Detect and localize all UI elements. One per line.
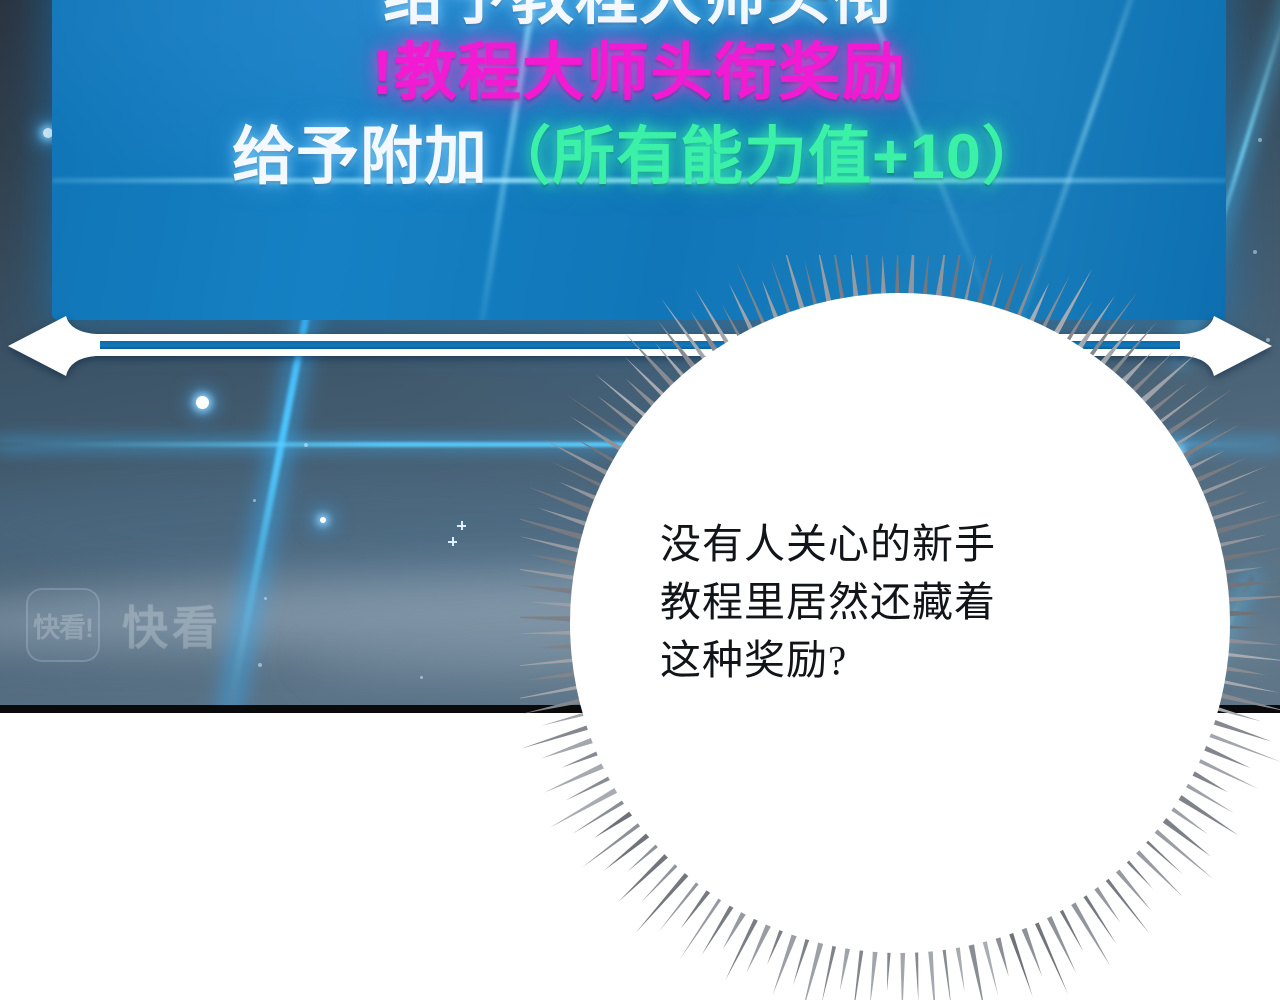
bubble-spike bbox=[544, 760, 611, 793]
bubble-spike bbox=[1079, 888, 1117, 944]
bubble-spike bbox=[520, 536, 586, 555]
bubble-spike bbox=[1014, 255, 1044, 323]
bubble-spike bbox=[941, 942, 951, 1000]
bubble-spike bbox=[520, 658, 580, 667]
bubble-spike bbox=[528, 487, 598, 517]
bubble-line-1: 没有人关心的新手 bbox=[660, 515, 980, 573]
watermark-wordmark: 快看 bbox=[122, 592, 222, 658]
bubble-dialogue: 没有人关心的新手 教程里居然还藏着 这种奖励? bbox=[660, 515, 980, 690]
bubble-spike bbox=[967, 937, 986, 1000]
notice-line-title: 给予教程大师头衔 bbox=[80, 0, 1198, 36]
bubble-spike bbox=[520, 585, 580, 596]
bubble-spike bbox=[1067, 895, 1111, 966]
bubble-spike bbox=[852, 943, 864, 1000]
bubble-spike bbox=[725, 912, 761, 981]
bubble-spike bbox=[551, 461, 609, 490]
sparkle-icon bbox=[320, 517, 326, 523]
bubble-spike bbox=[520, 631, 578, 635]
bubble-spike bbox=[1221, 638, 1280, 645]
bubble-line-2: 教程里居然还藏着 bbox=[660, 573, 980, 631]
dust-speck bbox=[1253, 250, 1257, 254]
bubble-spike bbox=[523, 697, 588, 714]
bubble-spike bbox=[1032, 915, 1069, 994]
bubble-spike bbox=[520, 516, 590, 543]
bubble-spike bbox=[915, 945, 919, 1000]
bubble-spike bbox=[773, 927, 800, 995]
bubble-spike bbox=[1195, 466, 1268, 498]
bubble-spike bbox=[1130, 844, 1183, 896]
notice-line-bonus: 给予附加（所有能力值+10） bbox=[80, 126, 1198, 206]
bubble-spike bbox=[544, 440, 614, 479]
dust-speck bbox=[420, 676, 423, 679]
notice-line-reward: !教程大师头衔奖励 bbox=[80, 42, 1198, 116]
bubble-spike bbox=[572, 796, 631, 834]
comic-page: 快看! 快看 给予教程大师头衔 !教程大师头衔奖励 给予附加（所有能力值+10） bbox=[0, 0, 1280, 1000]
star-icon bbox=[448, 537, 457, 546]
watermark: 快看! 快看 bbox=[26, 588, 222, 662]
bubble-spike bbox=[736, 261, 768, 331]
bubble-spike bbox=[1217, 679, 1280, 693]
dust-speck bbox=[258, 663, 262, 667]
bubble-spike bbox=[900, 945, 905, 1000]
bubble-spike bbox=[520, 567, 581, 581]
notice-bonus-prefix: 给予附加 bbox=[232, 122, 488, 192]
watermark-badge-icon: 快看! bbox=[26, 588, 100, 662]
bubble-line-3: 这种奖励? bbox=[660, 631, 980, 689]
bubble-spike bbox=[570, 416, 628, 455]
watermark-badge-label: 快看! bbox=[33, 606, 93, 645]
bubble-spike bbox=[1202, 731, 1280, 763]
notice-bonus-value: （所有能力值+10） bbox=[488, 122, 1046, 192]
dust-speck bbox=[264, 597, 267, 600]
bubble-spike bbox=[870, 944, 879, 1000]
bubble-spike bbox=[659, 876, 704, 932]
bubble-spike bbox=[1220, 581, 1280, 590]
bubble-spike bbox=[1039, 275, 1070, 334]
sparkle-icon bbox=[196, 396, 209, 409]
bubble-spike bbox=[927, 943, 936, 1000]
dust-speck bbox=[253, 499, 256, 502]
bubble-spike bbox=[1050, 269, 1092, 341]
bubble-spike bbox=[1215, 547, 1280, 563]
bubble-spike bbox=[822, 938, 838, 1000]
bubble-spike bbox=[1073, 295, 1115, 355]
bubble-spike bbox=[695, 289, 733, 351]
bubble-spike bbox=[520, 684, 585, 701]
bubble-spike bbox=[1221, 596, 1280, 603]
bubble-spike bbox=[1220, 652, 1280, 662]
dust-speck bbox=[304, 443, 308, 447]
bubble-spike bbox=[1192, 756, 1259, 790]
bubble-spike bbox=[520, 616, 578, 622]
bubble-spike bbox=[1154, 385, 1210, 428]
dust-speck bbox=[1258, 138, 1262, 142]
bubble-spike bbox=[981, 934, 999, 997]
bubble-spike bbox=[1176, 424, 1241, 462]
bubble-spike bbox=[1043, 909, 1076, 973]
star-icon bbox=[457, 521, 466, 530]
